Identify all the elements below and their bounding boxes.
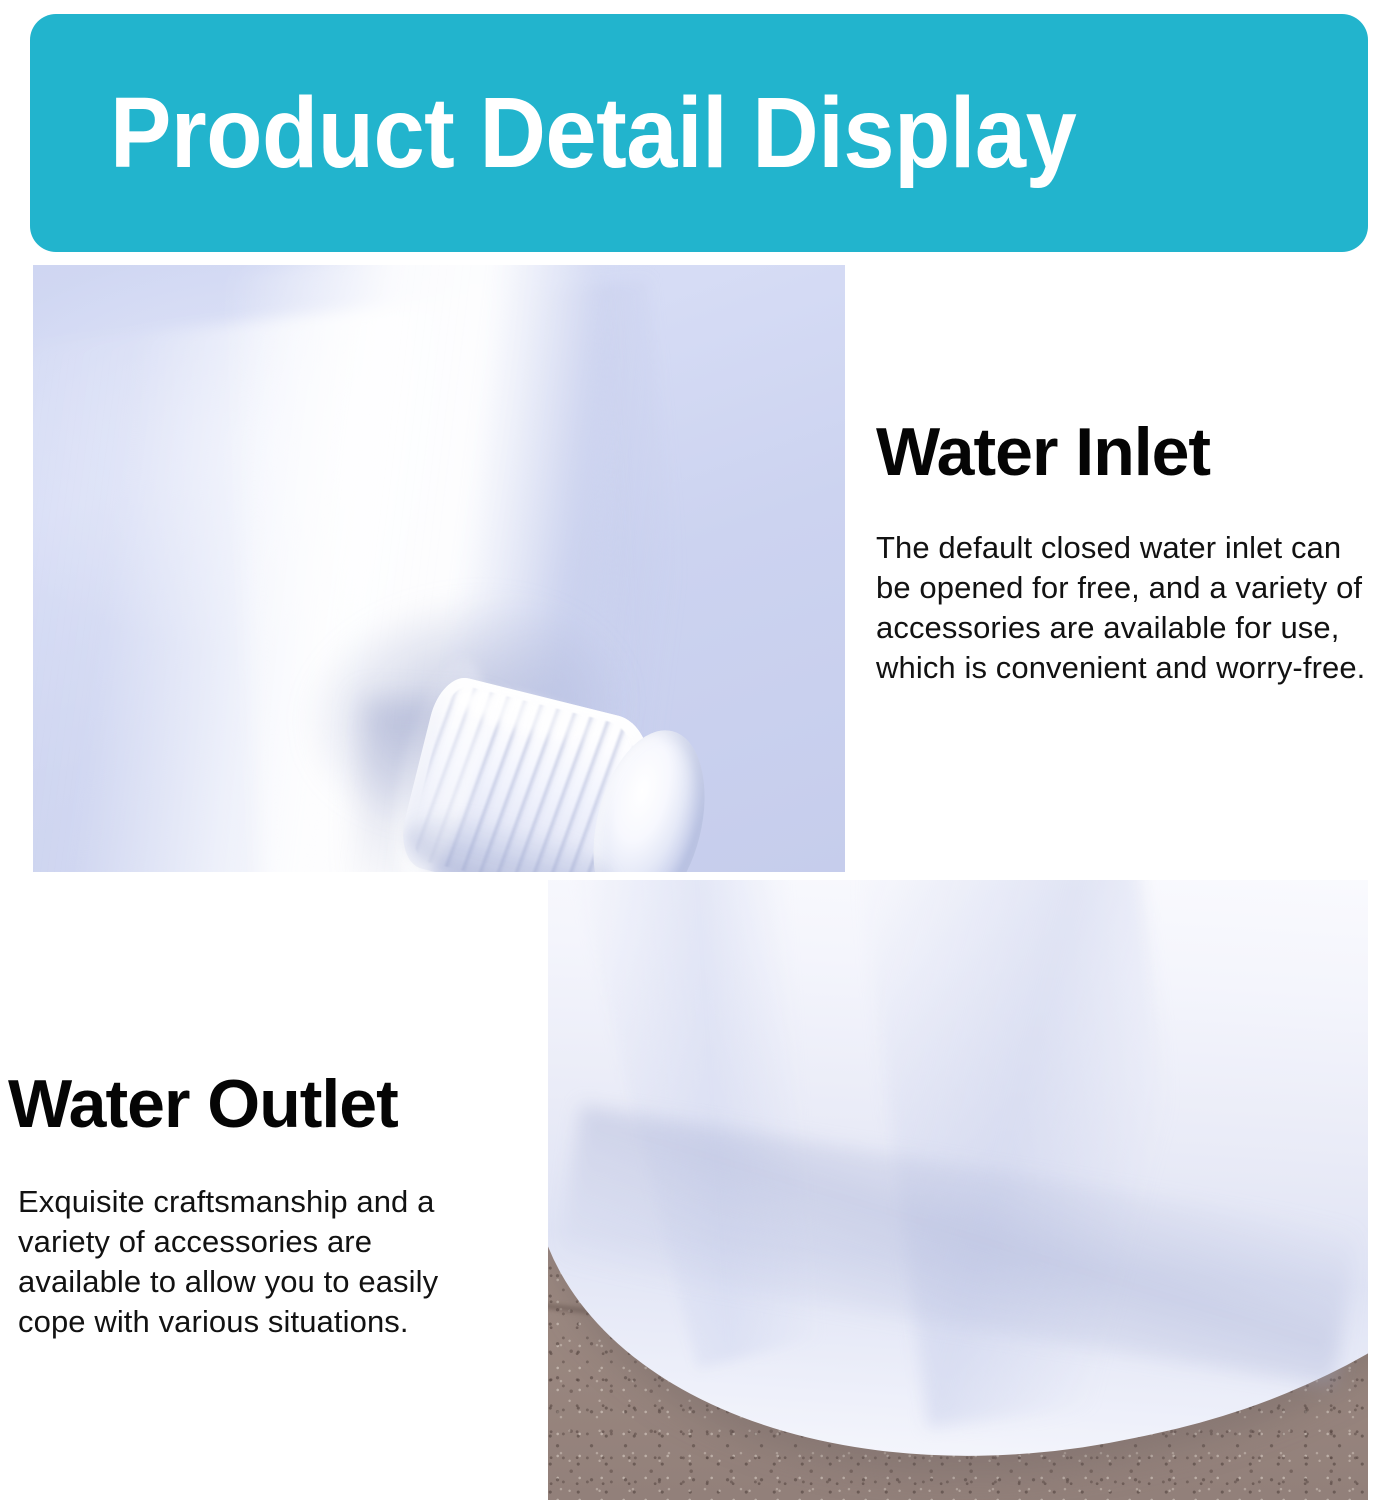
water-outlet-photo	[548, 880, 1368, 1500]
water-inlet-heading: Water Inlet	[876, 418, 1376, 486]
water-inlet-description: The default closed water inlet can be op…	[876, 528, 1368, 688]
water-inlet-photo	[33, 265, 845, 872]
water-outlet-heading: Water Outlet	[8, 1070, 548, 1138]
water-outlet-text-block: Water Outlet Exquisite craftsmanship and…	[8, 1070, 548, 1342]
water-inlet-text-block: Water Inlet The default closed water inl…	[876, 418, 1376, 688]
water-outlet-description: Exquisite craftsmanship and a variety of…	[18, 1182, 488, 1342]
header-banner: Product Detail Display	[30, 14, 1368, 252]
page-title: Product Detail Display	[110, 83, 1076, 183]
product-detail-page: Product Detail Display Water Inlet The d…	[0, 0, 1376, 1500]
